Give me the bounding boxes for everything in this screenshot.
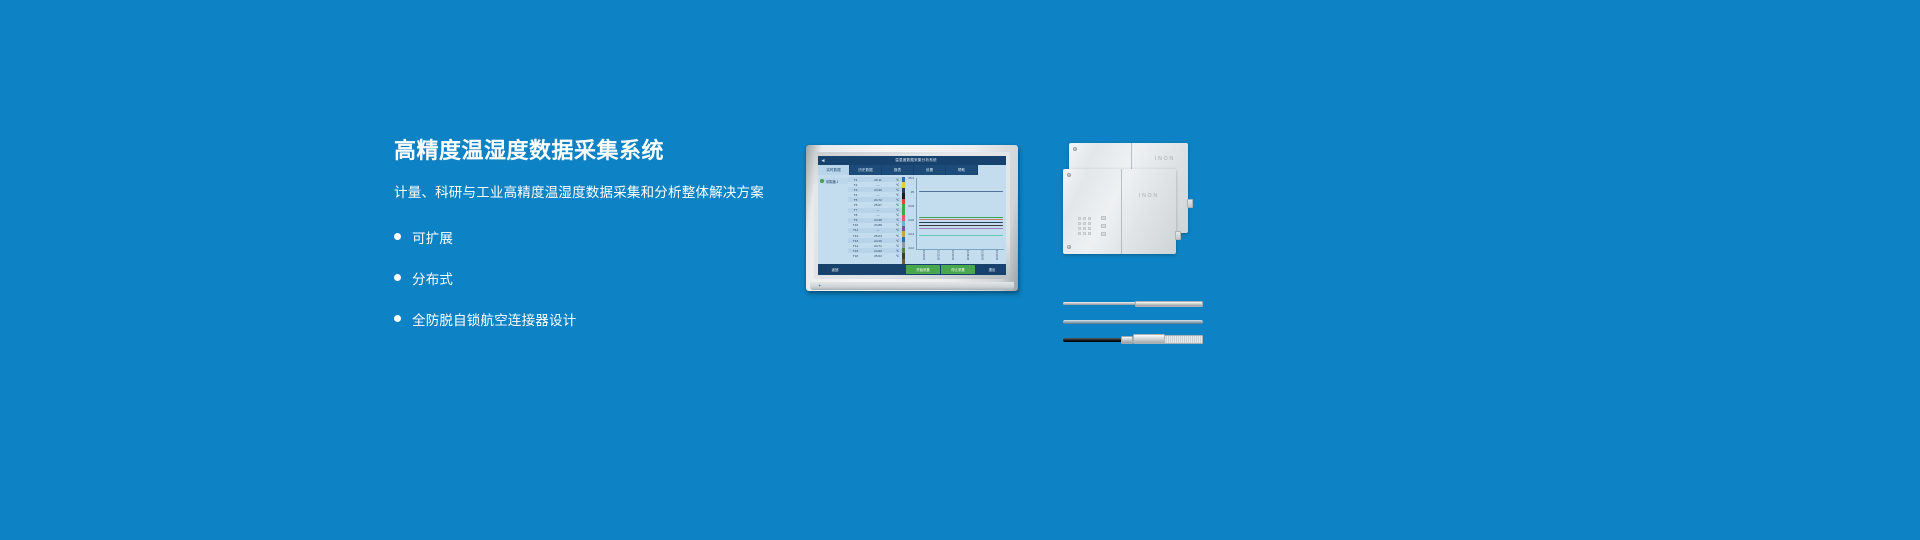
cell-channel: T13 [848, 239, 863, 243]
trend-line [919, 225, 1003, 226]
tab-realtime-data[interactable]: 实时数据 [818, 165, 850, 175]
x-axis-tick: 10:26:00 [966, 250, 969, 264]
tab-history-data[interactable]: 历史数据 [850, 165, 882, 175]
chart-plot-area [916, 178, 1004, 250]
x-axis-tick: 10:30:00 [995, 250, 998, 264]
list-item: 可扩展 [394, 224, 794, 250]
y-axis-tick: 25 [906, 191, 915, 194]
y-axis-tick: 24.2 [906, 247, 915, 250]
data-logger-group: INON INON [1063, 143, 1203, 293]
cell-channel: T11 [848, 228, 863, 232]
y-axis-tick: 24.6 [906, 219, 915, 222]
screen-body: 采集器-1 T125.11℃T2---℃T324.99℃T4---℃T524.7… [818, 175, 1006, 264]
cell-unit: ℃ [893, 188, 902, 192]
table-row[interactable]: T2---℃ [848, 182, 902, 187]
cell-unit: ℃ [893, 239, 902, 243]
terminal-block-icon [1083, 227, 1086, 230]
stop-acquisition-button[interactable]: 停止采集 [941, 265, 975, 274]
cell-value: 24.98 [863, 218, 893, 222]
online-status-icon [820, 179, 824, 183]
screw-icon [1067, 173, 1071, 177]
action-bar: 返回 开始采集 停止采集 退出 [818, 264, 1006, 275]
trend-line [919, 228, 1003, 229]
cell-unit: ℃ [893, 178, 902, 182]
device-tree-node[interactable]: 采集器-1 [820, 178, 848, 184]
device-node-label: 采集器-1 [826, 179, 838, 184]
cell-value: 24.99 [863, 188, 893, 192]
terminal-block-icon [1078, 232, 1081, 235]
cell-value: --- [863, 193, 893, 197]
tab-settings[interactable]: 设置 [914, 165, 946, 175]
table-row[interactable]: T125.11℃ [848, 177, 902, 182]
exit-button[interactable]: 退出 [982, 266, 1002, 274]
table-row[interactable]: T11---℃ [848, 228, 902, 233]
feature-list: 可扩展 分布式 全防脱自锁航空连接器设计 [394, 224, 794, 332]
bullet-icon [394, 315, 401, 322]
cell-unit: ℃ [893, 218, 902, 222]
cell-channel: T14 [848, 244, 863, 248]
terminal-block-icon [1083, 222, 1086, 225]
cell-channel: T3 [848, 188, 863, 192]
bullet-icon [394, 274, 401, 281]
cell-channel: T6 [848, 203, 863, 207]
trend-line [919, 222, 1003, 223]
cell-value: --- [863, 228, 893, 232]
table-row[interactable]: T1024.88℃ [848, 223, 902, 228]
y-axis-tick-labels: 25.22524.824.624.424.2 [906, 177, 915, 250]
probe-cable [1063, 338, 1123, 342]
cell-unit: ℃ [893, 223, 902, 227]
y-axis-tick: 24.8 [906, 205, 915, 208]
data-logger-front: INON [1063, 169, 1176, 254]
table-row[interactable]: T1424.71℃ [848, 243, 902, 248]
connector-port [1187, 199, 1193, 208]
sensor-housing [1164, 335, 1203, 345]
terminal-block-icon [1078, 222, 1081, 225]
trend-line [919, 219, 1003, 220]
cell-channel: T4 [848, 193, 863, 197]
cell-channel: T7 [848, 208, 863, 212]
feature-label: 全防脱自锁航空连接器设计 [412, 309, 576, 329]
brand-logo: INON [1155, 156, 1175, 162]
cell-unit: ℃ [893, 228, 902, 232]
list-item: 分布式 [394, 265, 794, 291]
cell-channel: T8 [848, 213, 863, 217]
terminal-block-icon [1078, 217, 1081, 220]
cell-value: 24.29 [863, 239, 893, 243]
bullet-icon [394, 233, 401, 240]
stainless-temperature-probe [1063, 299, 1203, 309]
terminal-block-icon [1088, 227, 1091, 230]
panel-seam [1121, 169, 1122, 254]
port-icon [1101, 216, 1106, 220]
aviation-connector [1133, 334, 1165, 344]
cell-channel: T15 [848, 249, 863, 253]
terminal-block-icon [1088, 217, 1091, 220]
probe-tip [1135, 301, 1203, 307]
back-button[interactable]: 返回 [823, 266, 847, 274]
channel-data-table[interactable]: T125.11℃T2---℃T324.99℃T4---℃T524.72℃T625… [848, 175, 902, 264]
cell-unit: ℃ [893, 203, 902, 207]
table-row[interactable]: T1324.29℃ [848, 238, 902, 243]
cell-channel: T16 [848, 254, 863, 258]
terminal-block-icon [1083, 217, 1086, 220]
table-row[interactable]: T1524.90℃ [848, 248, 902, 253]
connector-port [1175, 231, 1181, 240]
trend-line [919, 217, 1003, 218]
trend-line [919, 235, 1003, 236]
list-item: 全防脱自锁航空连接器设计 [394, 306, 794, 332]
cell-value: 25.04 [863, 234, 893, 238]
terminal-block-icon [1088, 222, 1091, 225]
cell-channel: T2 [848, 183, 863, 187]
y-axis-tick: 24.4 [906, 233, 915, 236]
cell-unit: ℃ [893, 244, 902, 248]
cell-value: 25.04 [863, 254, 893, 258]
screw-icon [1073, 147, 1077, 151]
device-tree-panel: 采集器-1 [818, 175, 848, 264]
industrial-panel-pc: ◄ 温湿度数据采集分析系统 实时数据 历史数据 报表 设置 帮助 [806, 145, 1020, 293]
table-row[interactable]: T1225.04℃ [848, 233, 902, 238]
screw-icon [1067, 245, 1071, 249]
tab-bar-filler [978, 165, 1006, 175]
cell-value: 25.11 [863, 178, 893, 182]
cell-value: 24.90 [863, 249, 893, 253]
sensor-probe-group [1063, 299, 1203, 354]
cell-value: --- [863, 183, 893, 187]
x-axis-tick-labels: 10:20:0010:22:0010:24:0010:26:0010:28:00… [916, 250, 1004, 264]
brand-logo: INON [1139, 193, 1159, 199]
tab-bar: 实时数据 历史数据 报表 设置 帮助 [818, 165, 1006, 175]
cell-value: --- [863, 208, 893, 212]
cell-value: 24.88 [863, 223, 893, 227]
cell-unit: ℃ [893, 208, 902, 212]
cable-strain-relief [1121, 336, 1133, 344]
blue-sheath-sensor-cable [1063, 318, 1203, 326]
x-axis-tick: 10:22:00 [936, 250, 939, 264]
x-axis-tick: 10:20:00 [922, 250, 925, 264]
tab-report[interactable]: 报表 [882, 165, 914, 175]
cell-unit: ℃ [893, 234, 902, 238]
probe-cable [1063, 320, 1203, 323]
cell-unit: ℃ [893, 254, 902, 258]
cell-unit: ℃ [893, 198, 902, 202]
cell-value: 24.72 [863, 198, 893, 202]
cell-value: 24.71 [863, 244, 893, 248]
cell-channel: T10 [848, 223, 863, 227]
table-row[interactable]: T924.98℃ [848, 218, 902, 223]
table-row[interactable]: T524.72℃ [848, 197, 902, 202]
port-icon [1101, 224, 1106, 228]
start-acquisition-button[interactable]: 开始采集 [906, 265, 940, 274]
table-row[interactable]: T625.07℃ [848, 202, 902, 207]
table-row[interactable]: T4---℃ [848, 192, 902, 197]
page-subtitle: 计量、科研与工业高精度温湿度数据采集和分析整体解决方案 [394, 184, 794, 202]
port-icon [1101, 232, 1106, 236]
terminal-block-icon [1083, 232, 1086, 235]
terminal-block-icon [1088, 232, 1091, 235]
app-title: 温湿度数据采集分析系统 [826, 156, 1006, 165]
cell-unit: ℃ [893, 213, 902, 217]
monitor-bottom-lip [810, 282, 1014, 290]
series-color-legend [902, 177, 905, 264]
marketing-copy-block: 高精度温湿度数据采集系统 计量、科研与工业高精度温湿度数据采集和分析整体解决方案… [394, 138, 794, 347]
trend-line [919, 191, 1003, 192]
x-axis-tick: 10:28:00 [980, 250, 983, 264]
page-title: 高精度温湿度数据采集系统 [394, 138, 794, 164]
table-row[interactable]: T1625.04℃ [848, 253, 902, 258]
cell-channel: T12 [848, 234, 863, 238]
app-titlebar: ◄ 温湿度数据采集分析系统 [818, 156, 1006, 165]
table-row[interactable]: T8---℃ [848, 213, 902, 218]
x-axis-tick: 10:24:00 [951, 250, 954, 264]
table-row[interactable]: T7---℃ [848, 208, 902, 213]
cell-unit: ℃ [893, 249, 902, 253]
feature-label: 分布式 [412, 268, 453, 288]
y-axis-tick: 25.2 [906, 177, 915, 180]
cell-channel: T1 [848, 178, 863, 182]
monitor-bezel: ◄ 温湿度数据采集分析系统 实时数据 历史数据 报表 设置 帮助 [814, 152, 1010, 279]
cell-channel: T9 [848, 218, 863, 222]
table-row[interactable]: T324.99℃ [848, 187, 902, 192]
trend-chart: 25.22524.824.624.424.2 10:20:0010:22:001… [906, 177, 1004, 264]
power-led-icon: ✦ [818, 284, 821, 287]
aviation-connector-probe [1063, 332, 1203, 346]
terminal-block-icon [1078, 227, 1081, 230]
cell-value: 25.07 [863, 203, 893, 207]
product-hero-banner: 高精度温湿度数据采集系统 计量、科研与工业高精度温湿度数据采集和分析整体解决方案… [0, 0, 1920, 540]
tab-help[interactable]: 帮助 [946, 165, 978, 175]
cell-channel: T5 [848, 198, 863, 202]
cell-unit: ℃ [893, 183, 902, 187]
cell-value: --- [863, 213, 893, 217]
monitor-screen: ◄ 温湿度数据采集分析系统 实时数据 历史数据 报表 设置 帮助 [818, 156, 1006, 275]
probe-cable [1063, 302, 1137, 305]
cell-unit: ℃ [893, 193, 902, 197]
feature-label: 可扩展 [412, 227, 453, 247]
